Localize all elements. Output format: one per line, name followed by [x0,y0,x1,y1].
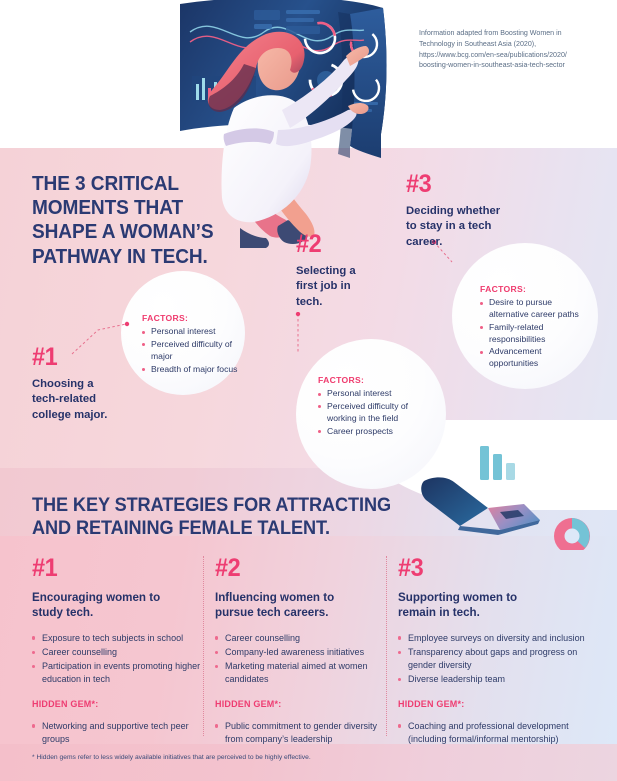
heading-line: AND RETAINING FEMALE TALENT. [32,517,367,540]
strategy-item: Transparency about gaps and progress on … [398,646,598,672]
moment-description-line: Selecting a [296,264,406,279]
screen-panel [286,18,314,22]
moment-description: Deciding whether to stay in a tech caree… [406,204,546,250]
strategy-item: Employee surveys on diversity and inclus… [398,632,598,645]
moment-block-3: #3 Deciding whether to stay in a tech ca… [406,172,546,250]
hidden-gem-title: HIDDEN GEM*: [215,699,387,709]
factor-item: Breadth of major focus [142,364,240,376]
hidden-gem-items: Public commitment to gender diversity fr… [215,720,387,746]
moment-block-1: #1 Choosing a tech-related college major… [32,345,142,423]
hidden-gem-item: Coaching and professional development (i… [398,720,598,746]
moment-number: #1 [32,345,135,370]
bar-chart-bar [506,463,515,480]
moment-block-2: #2 Selecting a first job in tech. [296,232,406,310]
strategy-item: Career counselling [215,632,387,645]
screen-bar [202,78,205,100]
factors-title: FACTORS: [480,284,588,294]
strategy-subtitle-line: Encouraging women to [32,590,204,605]
hidden-gem-item: Public commitment to gender diversity fr… [215,720,387,746]
moment-description-line: college major. [32,408,142,423]
laptop-illustration [400,432,605,550]
footnote: * Hidden gems refer to less widely avail… [32,754,311,763]
factor-item: Personal interest [318,388,438,400]
strategy-subtitle-line: study tech. [32,605,204,620]
connector-line-2 [292,312,312,358]
moment-description-line: to stay in a tech [406,219,546,234]
factors-items: Desire to pursue alternative career path… [480,297,588,370]
strategy-column-3: #3 Supporting women to remain in tech. E… [398,556,598,747]
factors-items: Personal interest Perceived difficulty o… [318,388,438,437]
strategy-item: Participation in events promoting higher… [32,660,204,686]
factors-title: FACTORS: [318,375,438,385]
moment-description: Choosing a tech-related college major. [32,377,142,423]
moment-description-line: Choosing a [32,377,142,392]
hidden-gem-block: HIDDEN GEM*: Networking and supportive t… [32,699,204,746]
strategy-item: Company-led awareness initiatives [215,646,387,659]
hidden-gem-items: Networking and supportive tech peer grou… [32,720,204,746]
strategy-item: Diverse leadership team [398,673,598,686]
factors-title: FACTORS: [142,313,240,323]
infographic-poster: Information adapted from Boosting Women … [0,0,617,781]
factors-list-2: FACTORS: Personal interest Perceived dif… [318,375,438,438]
factors-list-3: FACTORS: Desire to pursue alternative ca… [480,284,588,371]
strategy-subtitle: Supporting women to remain in tech. [398,590,598,621]
heading-line: PATHWAY IN TECH. [32,245,246,269]
strategy-column-2: #2 Influencing women to pursue tech care… [215,556,387,747]
moment-description-line: career. [406,235,546,250]
factor-item: Perceived difficulty of major [142,339,240,363]
factor-item: Advancement opportunities [480,346,588,370]
hidden-gem-block: HIDDEN GEM*: Coaching and professional d… [398,699,598,746]
source-note: Information adapted from Boosting Women … [419,28,601,71]
hidden-gem-title: HIDDEN GEM*: [398,699,598,709]
strategy-subtitle-line: remain in tech. [398,605,598,620]
bar-chart-bar [480,446,489,480]
strategy-subtitle: Influencing women to pursue tech careers… [215,590,387,621]
strategy-item: Career counselling [32,646,204,659]
factor-item: Perceived difficulty of working in the f… [318,401,438,425]
source-note-line: Technology in Southeast Asia (2020), [419,39,601,50]
strategy-items: Employee surveys on diversity and inclus… [398,632,598,686]
strategy-subtitle: Encouraging women to study tech. [32,590,204,621]
strategy-subtitle-line: Supporting women to [398,590,598,605]
heading-line: SHAPE A WOMAN’S [32,220,246,244]
moments-section-heading: THE 3 CRITICAL MOMENTS THAT SHAPE A WOMA… [32,172,246,269]
strategy-number: #2 [215,556,377,581]
moment-description-line: tech-related [32,392,142,407]
strategy-item: Marketing material aimed at women candid… [215,660,387,686]
screen-bar [196,84,199,100]
strategy-items: Career counselling Company-led awareness… [215,632,387,686]
factor-item: Family-related responsibilities [480,322,588,346]
moment-number: #3 [406,172,538,197]
moment-description-line: tech. [296,295,406,310]
ring-icon [536,478,553,495]
moment-description-line: first job in [296,279,406,294]
hidden-gem-title: HIDDEN GEM*: [32,699,204,709]
screen-panel [254,24,272,29]
strategy-subtitle-line: Influencing women to [215,590,387,605]
strategy-items: Exposure to tech subjects in school Care… [32,632,204,686]
moment-number: #2 [296,232,399,257]
factors-items: Personal interest Perceived difficulty o… [142,326,240,375]
source-note-line: Information adapted from Boosting Women … [419,28,601,39]
strategy-number: #1 [32,556,194,581]
moment-description: Selecting a first job in tech. [296,264,406,310]
heading-line: THE 3 CRITICAL [32,172,246,196]
screen-panel [254,10,280,20]
factor-item: Personal interest [142,326,240,338]
source-note-line: boosting-women-in-southeast-asia-tech-se… [419,60,601,71]
strategy-item: Exposure to tech subjects in school [32,632,204,645]
screen-panel [286,10,320,14]
strategies-section-heading: THE KEY STRATEGIES FOR ATTRACTING AND RE… [32,494,367,541]
heading-line: MOMENTS THAT [32,196,246,220]
source-note-line: https://www.bcg.com/en-sea/publications/… [419,50,601,61]
hidden-gem-item: Networking and supportive tech peer grou… [32,720,204,746]
factor-item: Desire to pursue alternative career path… [480,297,588,321]
strategy-column-1: #1 Encouraging women to study tech. Expo… [32,556,204,747]
donut-chart-hole [565,529,580,544]
laptop-svg [400,432,605,550]
moment-description-line: Deciding whether [406,204,546,219]
bar-chart-bar [493,454,502,480]
heading-line: THE KEY STRATEGIES FOR ATTRACTING [32,494,367,517]
strategy-subtitle-line: pursue tech careers. [215,605,387,620]
strategy-number: #3 [398,556,586,581]
hidden-gem-block: HIDDEN GEM*: Public commitment to gender… [215,699,387,746]
factors-list-1: FACTORS: Personal interest Perceived dif… [142,313,240,376]
screen-panel [286,26,320,34]
laptop-lid [421,477,488,526]
hidden-gem-items: Coaching and professional development (i… [398,720,598,746]
